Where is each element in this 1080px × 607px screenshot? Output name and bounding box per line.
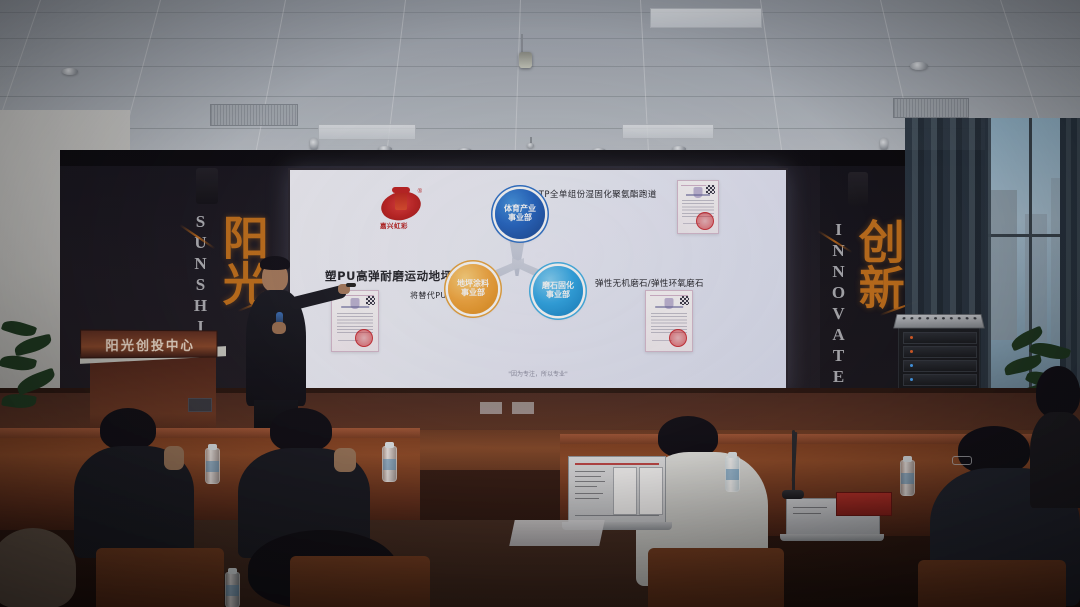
conference-room-photo: SUNSHINE 阳光 INNOVATE 创新 ® 嘉兴虹彩 STP全 — [0, 0, 1080, 607]
presenter-hand-mic — [272, 322, 286, 334]
ceiling-panel-light — [650, 8, 762, 28]
ceiling-panel-light — [622, 124, 714, 139]
laptop-screen[interactable] — [568, 456, 666, 523]
certificate-top-right — [677, 180, 719, 234]
chair[interactable] — [290, 556, 430, 607]
ceiling-panel-light — [318, 124, 416, 140]
ceiling-downlight — [910, 62, 928, 70]
name-card — [836, 492, 892, 516]
slide-heading-top-right: STP全单组份湿固化聚氨酯跑道 — [533, 188, 657, 200]
venue-sign-text: 阳光创投中心 — [105, 334, 195, 353]
water-bottle[interactable] — [225, 572, 240, 607]
wall-socket — [188, 398, 212, 412]
wall-top-shadow — [60, 150, 1000, 166]
attendee — [0, 528, 100, 607]
slide-circle-terrazzo: 磨石固化 事业部 — [533, 266, 583, 316]
wall-speaker-left — [196, 168, 218, 204]
venue-sign: 阳光创投中心 — [80, 330, 217, 359]
slide-circle-terrazzo-line2: 事业部 — [542, 291, 574, 300]
slide-circle-flooring: 地坪涂料 事业部 — [448, 264, 498, 314]
eyeglasses — [952, 456, 972, 465]
slide-heading-right: 弹性无机磨石/弹性环氧磨石 — [595, 277, 704, 289]
ceiling-vent — [210, 104, 298, 126]
projection-screen: ® 嘉兴虹彩 STP全单组份湿固化聚氨酯跑道 塑PU高弹耐磨运动地坪 将替代PU… — [288, 168, 788, 394]
printed-document — [509, 520, 605, 546]
chair[interactable] — [96, 548, 224, 607]
slide-circle-sports-line2: 事业部 — [504, 214, 536, 223]
company-logo-text: 嘉兴虹彩 — [380, 220, 408, 230]
wall-art-sunshine-en: SUNSHINE — [190, 212, 210, 336]
wall-socket — [480, 402, 502, 414]
potted-plant-left — [0, 322, 60, 432]
attendee-hand — [334, 448, 356, 472]
laser-pointer[interactable] — [346, 283, 356, 287]
attendee — [1030, 366, 1080, 506]
wall-art-innovate-cn: 创新 — [856, 218, 900, 310]
certificate-bottom-right — [645, 290, 693, 352]
speaker-pendant — [310, 138, 318, 150]
water-bottle[interactable] — [900, 460, 915, 496]
projector-body — [519, 52, 532, 68]
audio-mixer[interactable] — [893, 314, 984, 328]
water-bottle[interactable] — [205, 448, 220, 484]
attendee-hand — [164, 446, 184, 470]
slide-footer-tagline: "因为专注，所以专业" — [508, 369, 568, 378]
water-bottle[interactable] — [382, 446, 397, 482]
slide-circle-sports: 体育产业 事业部 — [495, 189, 545, 239]
wall-socket — [512, 402, 534, 414]
wall-speaker-right — [848, 172, 868, 206]
ceiling-downlight — [62, 68, 78, 75]
microphone-base — [782, 490, 804, 499]
slide-heading-left-sub: 将替代PU — [410, 290, 447, 301]
chair[interactable] — [918, 560, 1066, 607]
speaker-pendant — [880, 138, 888, 150]
chair[interactable] — [648, 548, 784, 607]
ceiling-vent — [893, 98, 969, 118]
slide-circle-flooring-line2: 事业部 — [457, 289, 489, 298]
company-logo: ® 嘉兴虹彩 — [381, 188, 421, 230]
sprinkler-head — [527, 143, 534, 148]
water-bottle[interactable] — [725, 456, 740, 492]
laptop-keyboard[interactable] — [780, 534, 884, 541]
